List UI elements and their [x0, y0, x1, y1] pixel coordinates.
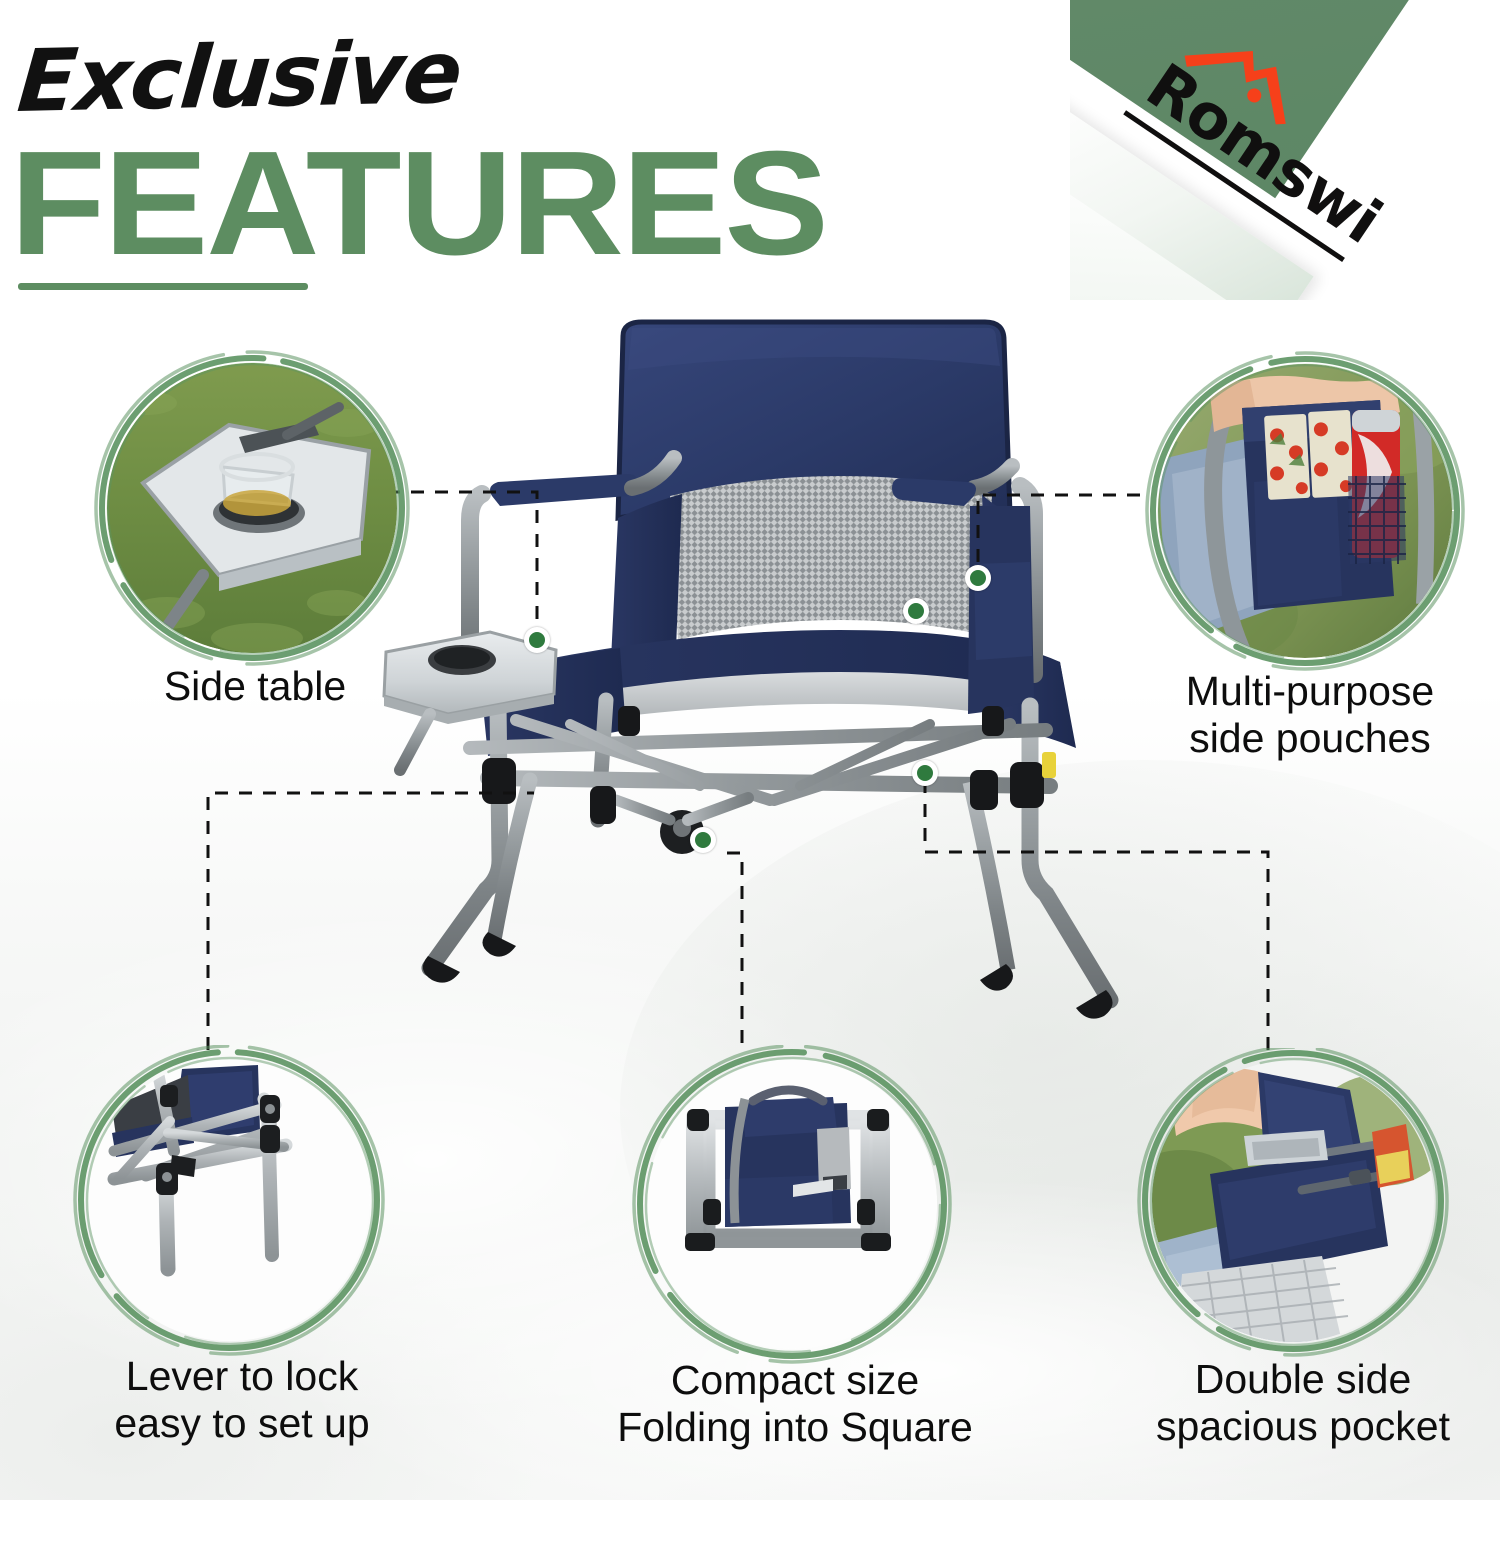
feature-caption-lever-lock: Lever to lock easy to set up	[62, 1353, 422, 1446]
product-chair-illustration	[370, 300, 1130, 1060]
feature-caption-compact-size: Compact size Folding into Square	[595, 1357, 995, 1450]
feature-side-pouches[interactable]: Multi-purpose side pouches	[1130, 350, 1490, 770]
chair-left-armrest-pad	[490, 474, 638, 506]
marker-dot-side-table	[524, 627, 550, 653]
feature-photo-compact-size	[647, 1059, 937, 1349]
warning-sticker	[1042, 752, 1056, 778]
infographic-page: Exclusive FEATURES Romswi	[0, 0, 1500, 1500]
headline-script-word: Exclusive	[14, 23, 465, 132]
feature-double-pocket[interactable]: Double side spacious pocket	[1118, 1048, 1488, 1468]
feature-caption-side-table: Side table	[85, 663, 425, 710]
feature-photo-side-pouches	[1158, 364, 1452, 658]
feature-side-table[interactable]: Side table	[85, 345, 425, 745]
marker-dot-lever-lock	[690, 827, 716, 853]
marker-dot-frame	[903, 598, 929, 624]
feature-photo-side-table	[107, 363, 397, 653]
feature-caption-double-pocket: Double side spacious pocket	[1118, 1356, 1488, 1449]
brand-banner: Romswi	[1070, 0, 1500, 300]
headline-underline	[18, 283, 308, 290]
chair-front-right-leg	[1030, 706, 1110, 1000]
feature-caption-side-pouches: Multi-purpose side pouches	[1130, 668, 1490, 761]
chair-foot-right	[1076, 990, 1113, 1019]
feature-photo-double-pocket	[1152, 1060, 1434, 1342]
feature-photo-lever-lock	[88, 1059, 370, 1341]
marker-dot-double-pocket	[912, 760, 938, 786]
feature-lever-lock[interactable]: Lever to lock easy to set up	[62, 1045, 422, 1465]
marker-dot-side-pouches	[965, 565, 991, 591]
feature-compact-size[interactable]: Compact size Folding into Square	[595, 1045, 995, 1465]
headline-main-word: FEATURES	[10, 130, 827, 278]
